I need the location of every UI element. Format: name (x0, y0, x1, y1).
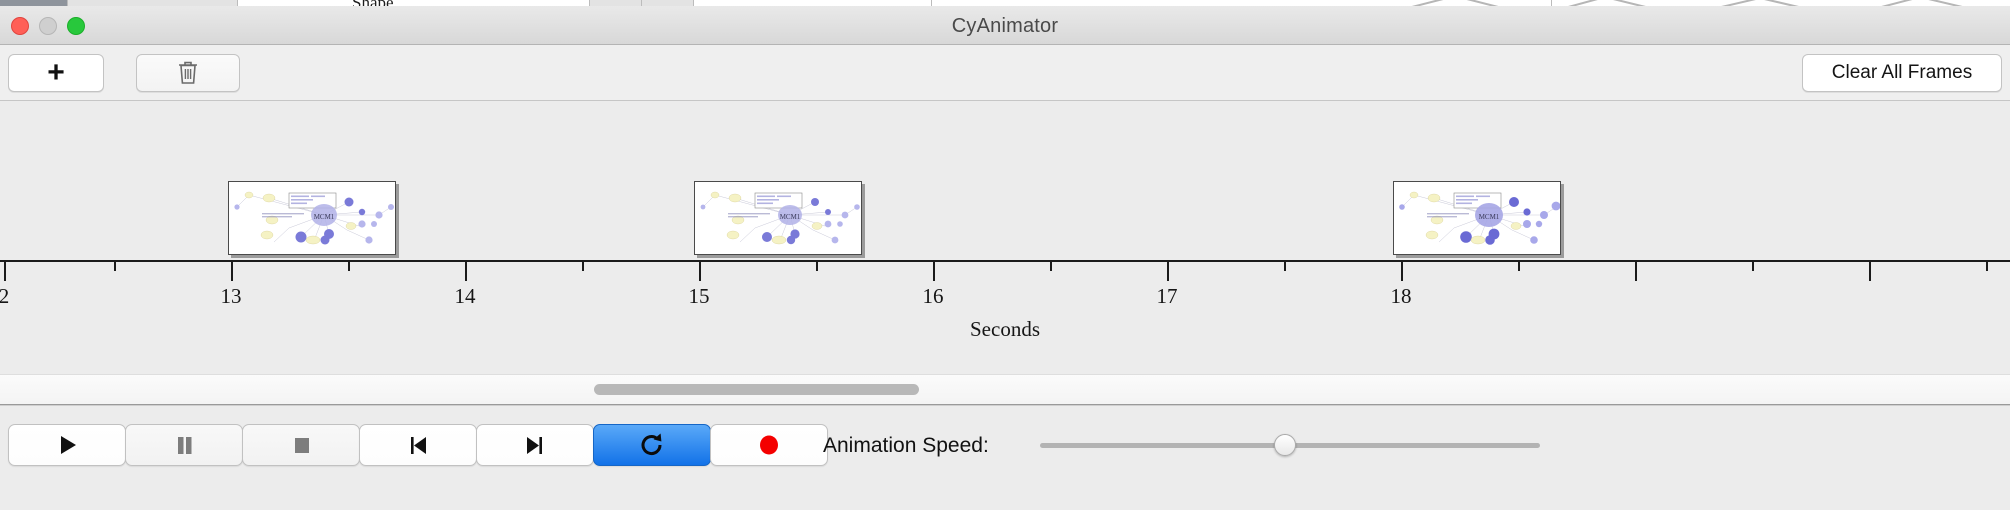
ruler-tick-major (699, 262, 701, 281)
ruler-label: 14 (455, 284, 476, 309)
slider-thumb[interactable] (1274, 434, 1296, 456)
ruler-tick-major (1401, 262, 1403, 281)
pause-icon (171, 432, 197, 458)
ruler-tick-major (1635, 262, 1637, 281)
playback-controls: Animation Speed: (0, 405, 2010, 509)
ruler-tick-minor (114, 262, 116, 271)
network-preview: MCM1 (229, 182, 396, 255)
ruler-tick-minor (816, 262, 818, 271)
timeline-scrollbar[interactable] (0, 374, 2010, 405)
svg-text:MCM1: MCM1 (1479, 213, 1500, 221)
previous-frame-button[interactable] (359, 424, 477, 466)
timeline-panel[interactable]: MCM1 (0, 101, 2010, 374)
ruler-tick-minor (1518, 262, 1520, 271)
add-frame-button[interactable]: + (8, 54, 104, 92)
ruler-tick-major (933, 262, 935, 281)
trash-icon (177, 60, 199, 86)
frame-toolbar: + Clear All Frames (0, 45, 2010, 101)
skip-back-icon (405, 432, 431, 458)
ruler-tick-minor (1986, 262, 1988, 271)
clear-all-frames-label: Clear All Frames (1832, 62, 1972, 84)
delete-frame-button[interactable] (136, 54, 240, 92)
stop-icon (288, 432, 314, 458)
ruler-baseline (0, 260, 2010, 262)
stop-button[interactable] (242, 424, 360, 466)
ruler-tick-minor (1050, 262, 1052, 271)
next-frame-button[interactable] (476, 424, 594, 466)
plus-icon: + (47, 58, 65, 88)
ruler-tick-minor (1752, 262, 1754, 271)
play-button[interactable] (8, 424, 126, 466)
animation-speed-label: Animation Speed: (823, 434, 989, 458)
ruler-tick-minor (582, 262, 584, 271)
network-preview: MCM1 (1394, 182, 1561, 255)
ruler-tick-major (1869, 262, 1871, 281)
animation-speed-slider[interactable] (1040, 436, 1540, 456)
ruler-label: 17 (1157, 284, 1178, 309)
ruler-label: 16 (923, 284, 944, 309)
scrollbar-thumb[interactable] (594, 384, 919, 395)
ruler-tick-major (4, 262, 6, 281)
cyanimator-window: CyAnimator + Clear All Frames (0, 6, 2010, 510)
play-icon (54, 432, 80, 458)
frame-thumbnail[interactable]: MCM1 (228, 181, 396, 255)
axis-title: Seconds (0, 317, 2010, 342)
svg-text:MCM1: MCM1 (780, 213, 801, 221)
frame-thumbnail[interactable]: MCM1 (1393, 181, 1561, 255)
record-button[interactable] (710, 424, 828, 466)
loop-button[interactable] (593, 424, 711, 466)
ruler-tick-minor (1284, 262, 1286, 271)
ruler-label: 18 (1391, 284, 1412, 309)
ruler-label: 2 (0, 284, 9, 309)
window-titlebar: CyAnimator (0, 6, 2010, 45)
frame-thumbnail[interactable]: MCM1 (694, 181, 862, 255)
record-icon (756, 432, 782, 458)
pause-button[interactable] (125, 424, 243, 466)
timeline-ruler[interactable]: 2 13 14 15 16 17 18 Seconds (0, 260, 2010, 374)
network-preview: MCM1 (695, 182, 862, 255)
ruler-tick-major (1167, 262, 1169, 281)
clear-all-frames-button[interactable]: Clear All Frames (1802, 54, 2002, 92)
ruler-label: 13 (221, 284, 242, 309)
ruler-tick-major (465, 262, 467, 281)
ruler-tick-major (231, 262, 233, 281)
window-title: CyAnimator (0, 15, 2010, 38)
ruler-tick-minor (348, 262, 350, 271)
svg-text:MCM1: MCM1 (314, 213, 335, 221)
skip-forward-icon (522, 432, 548, 458)
ruler-label: 15 (689, 284, 710, 309)
loop-icon (638, 431, 666, 459)
